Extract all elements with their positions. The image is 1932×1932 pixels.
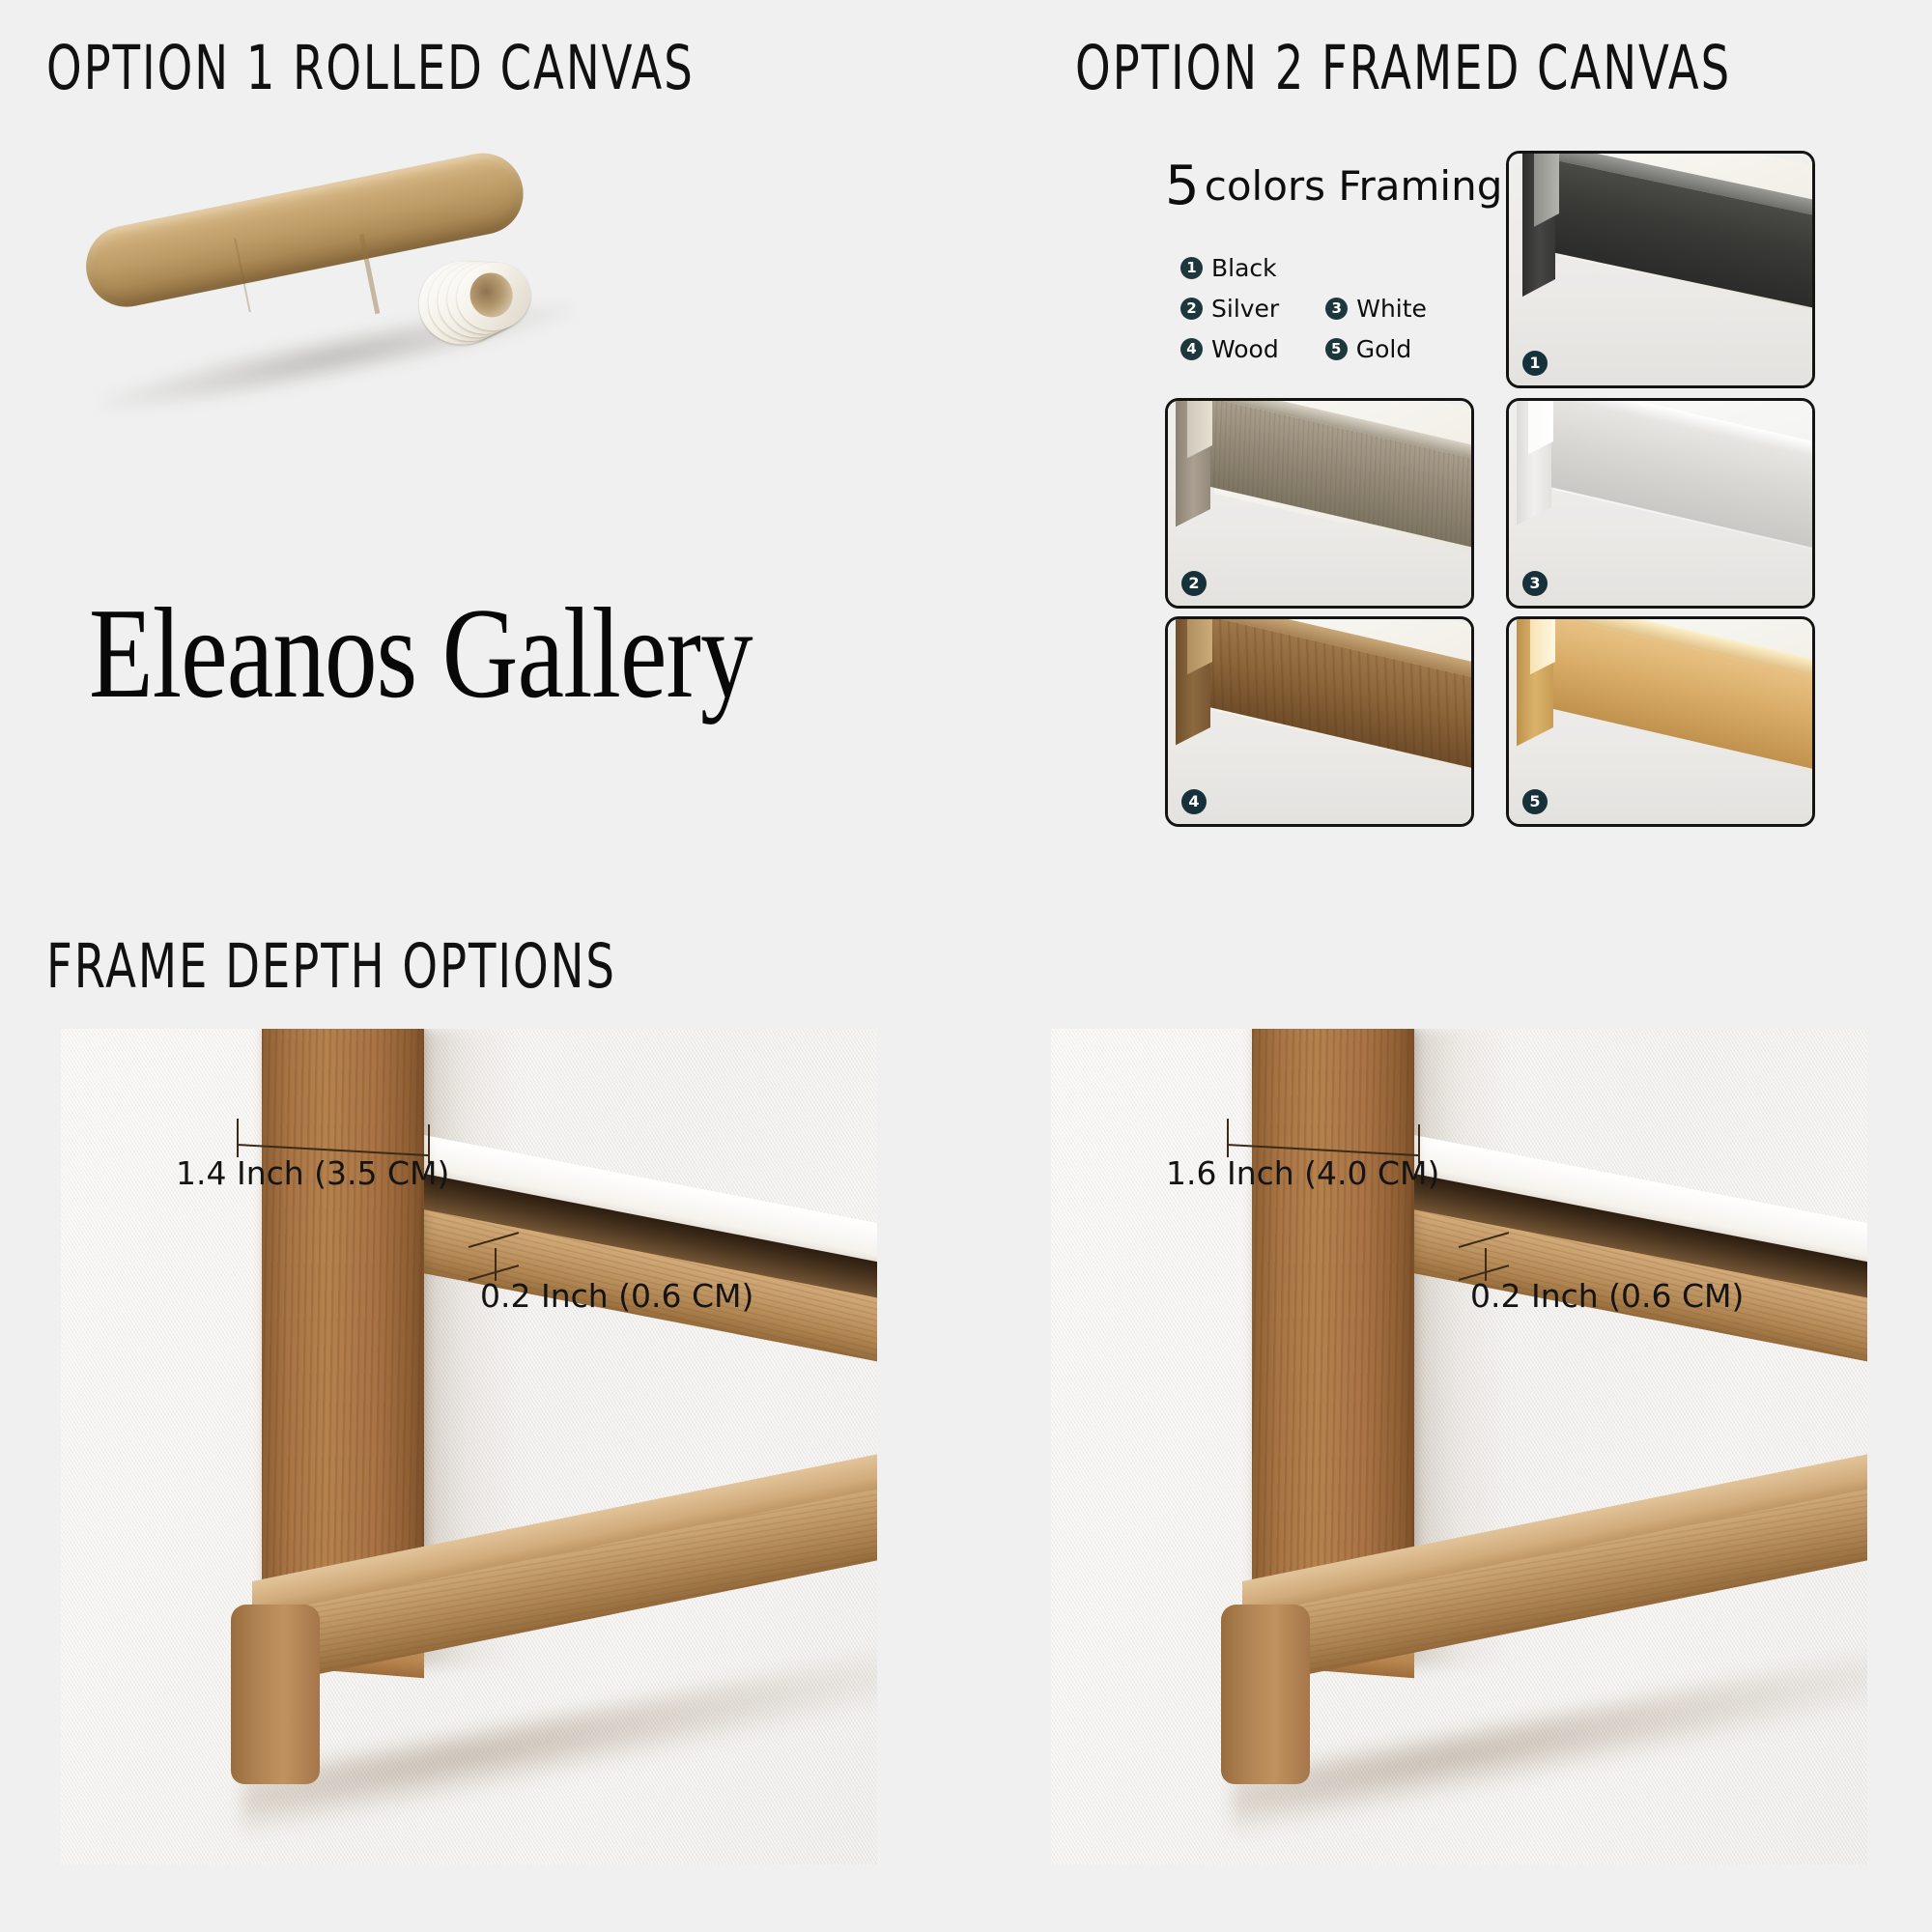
- legend-label-black: Black: [1211, 254, 1277, 282]
- legend-label-gold: Gold: [1356, 335, 1411, 363]
- swatch-badge-4: 4: [1181, 789, 1207, 814]
- legend-row: 4Wood 5Gold: [1180, 335, 1427, 376]
- legend-label-wood: Wood: [1211, 335, 1279, 363]
- foreground-rail-end-cap: [231, 1605, 320, 1784]
- legend-badge-5: 5: [1325, 338, 1348, 360]
- legend-item-gold: 5Gold: [1325, 335, 1411, 363]
- frame-swatch-silver[interactable]: 2: [1165, 398, 1474, 609]
- legend-label-silver: Silver: [1211, 295, 1279, 323]
- legend-badge-2: 2: [1180, 298, 1203, 320]
- brand-wordmark: Eleanos Gallery: [89, 580, 753, 727]
- swatch-scene: [1509, 619, 1812, 824]
- swatch-scene: [1168, 619, 1471, 824]
- swatch-scene: [1509, 154, 1812, 385]
- frame-swatch-gold[interactable]: 5: [1506, 616, 1815, 827]
- swatch-badge-2: 2: [1181, 571, 1207, 596]
- legend-badge-1: 1: [1180, 257, 1203, 279]
- dimension-label-width-right: 1.6 Inch (4.0 CM): [1166, 1154, 1439, 1192]
- frame-swatch-wood[interactable]: 4: [1165, 616, 1474, 827]
- foreground-rail-end-cap: [1221, 1605, 1310, 1784]
- rolled-canvas-photo: [77, 145, 638, 435]
- swatch-badge-3: 3: [1522, 571, 1548, 596]
- framing-title-label: colors Framing: [1205, 162, 1503, 210]
- heading-frame-depth-options: FRAME DEPTH OPTIONS: [46, 931, 616, 1003]
- legend-item-wood: 4Wood: [1180, 335, 1279, 363]
- heading-option-2-framed-canvas: OPTION 2 FRAMED CANVAS: [1075, 33, 1731, 104]
- legend-badge-4: 4: [1180, 338, 1203, 360]
- dimension-label-width-left: 1.4 Inch (3.5 CM): [176, 1154, 449, 1192]
- swatch-badge-1: 1: [1522, 351, 1548, 376]
- framing-colors-block: 5 colors Framing 1Black 2Silver 3White 4…: [1159, 155, 1903, 696]
- heading-option-1-rolled-canvas: OPTION 1 ROLLED CANVAS: [46, 33, 695, 104]
- legend-label-white: White: [1356, 295, 1427, 323]
- legend-badge-3: 3: [1325, 298, 1348, 320]
- framing-colors-title: 5 colors Framing: [1165, 155, 1502, 217]
- legend-item-black: 1Black: [1180, 254, 1277, 282]
- swatch-badge-5: 5: [1522, 789, 1548, 814]
- framing-color-legend: 1Black 2Silver 3White 4Wood 5Gold: [1180, 254, 1427, 376]
- dimension-label-thickness-right: 0.2 Inch (0.6 CM): [1470, 1277, 1744, 1315]
- swatch-scene: [1509, 401, 1812, 606]
- legend-item-silver: 2Silver: [1180, 295, 1279, 323]
- legend-row: 2Silver 3White: [1180, 295, 1427, 335]
- legend-item-white: 3White: [1325, 295, 1427, 323]
- frame-swatch-black[interactable]: 1: [1506, 151, 1815, 388]
- swatch-scene: [1168, 401, 1471, 606]
- dimension-label-thickness-left: 0.2 Inch (0.6 CM): [480, 1277, 753, 1315]
- frame-swatch-white[interactable]: 3: [1506, 398, 1815, 609]
- framing-count: 5: [1165, 155, 1200, 217]
- legend-row: 1Black: [1180, 254, 1427, 295]
